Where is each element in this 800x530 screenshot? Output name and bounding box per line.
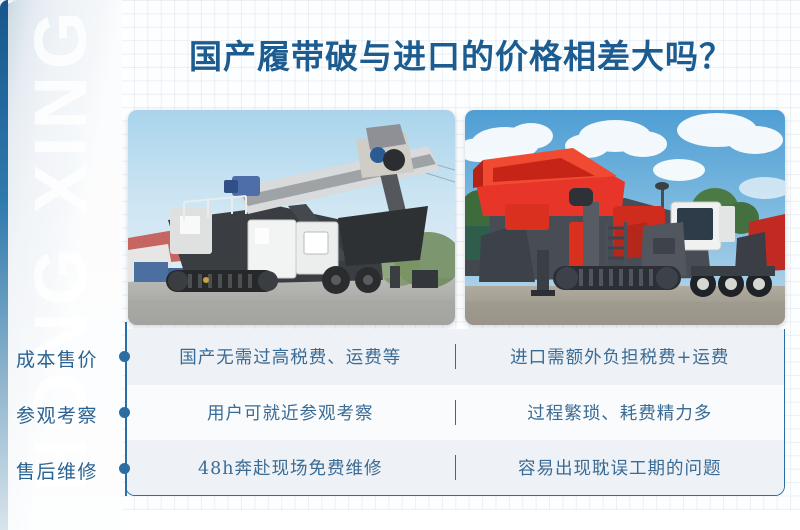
cell-domestic-visit: 用户可就近参观考察 <box>126 400 456 425</box>
comparison-table: 国产无需过高税费、运费等 进口需额外负担税费+运费 用户可就近参观考察 过程繁琐… <box>125 329 785 496</box>
cell-domestic-cost: 国产无需过高税费、运费等 <box>126 344 456 369</box>
brand-band: HONG XING <box>0 0 122 530</box>
cell-domestic-service: 48h奔赴现场免费维修 <box>126 455 456 480</box>
cell-imported-visit: 过程繁琐、耗费精力多 <box>456 400 785 425</box>
poster-root: HONG XING 国产履带破与进口的价格相差大吗？ <box>0 0 800 530</box>
table-row: 48h奔赴现场免费维修 容易出现耽误工期的问题 <box>126 440 784 496</box>
domestic-crusher-illustration <box>128 110 455 325</box>
cell-imported-cost: 进口需额外负担税费+运费 <box>456 344 785 369</box>
row-label-service: 售后维修 <box>0 457 98 484</box>
row-label-cost: 成本售价 <box>0 345 98 372</box>
row-dot-service <box>119 463 130 474</box>
photo-card-domestic <box>128 110 455 325</box>
cell-imported-service: 容易出现耽误工期的问题 <box>456 455 785 480</box>
page-title: 国产履带破与进口的价格相差大吗？ <box>122 30 800 78</box>
photo-card-imported <box>465 110 785 325</box>
row-dot-visit <box>119 407 130 418</box>
row-dot-cost <box>119 351 130 362</box>
row-label-visit: 参观考察 <box>0 401 98 428</box>
table-row: 国产无需过高税费、运费等 进口需额外负担税费+运费 <box>126 329 784 385</box>
table-row: 用户可就近参观考察 过程繁琐、耗费精力多 <box>126 385 784 441</box>
imported-crusher-illustration <box>465 110 785 325</box>
